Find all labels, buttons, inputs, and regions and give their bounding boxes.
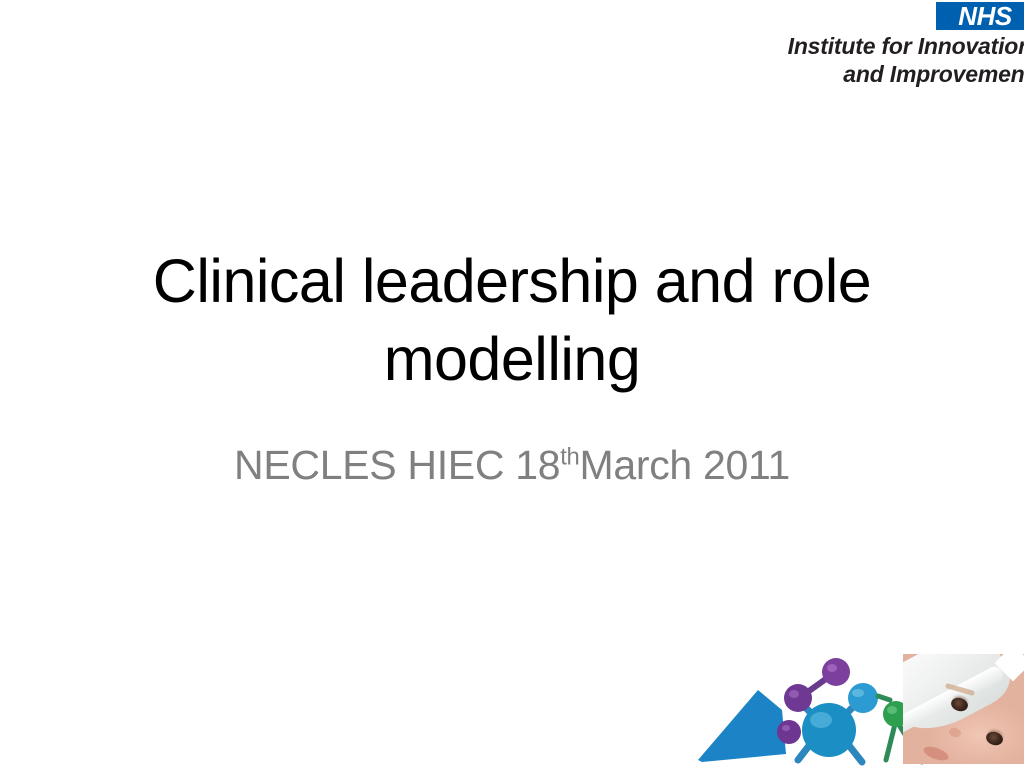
molecule-blue-sphere-small-highlight [852, 689, 864, 697]
nhs-strapline-line2: and Improvement [724, 60, 1024, 88]
subtitle-block: NECLES HIEC 18thMarch 2011 [62, 440, 962, 490]
molecule-blue-sphere-small [848, 683, 878, 713]
molecule-core-sphere [802, 703, 856, 757]
slide-title: Clinical leadership and role modelling [62, 242, 962, 398]
molecule-green-sphere-highlight [887, 706, 897, 714]
blue-wedge-shape [698, 690, 786, 762]
nhs-badge: NHS [936, 2, 1024, 30]
molecule-core-highlight [810, 712, 832, 728]
footer-graphic [690, 648, 1024, 768]
molecule-purple-sphere-wedge-highlight [782, 725, 790, 731]
subtitle-prefix: NECLES HIEC 18 [234, 442, 560, 488]
molecule-purple-sphere-left [784, 684, 812, 712]
nhs-strapline-line1: Institute for Innovation [788, 33, 1024, 59]
molecule-purple-sphere-wedge [777, 720, 801, 744]
slide-subtitle: NECLES HIEC 18thMarch 2011 [62, 440, 962, 490]
nhs-strapline: Institute for Innovation and Improvement [724, 32, 1024, 88]
subtitle-suffix: March 2011 [579, 442, 789, 488]
slide-canvas: NHS Institute for Innovation and Improve… [0, 0, 1024, 768]
molecule-purple-sphere-upper-highlight [827, 664, 837, 672]
title-block: Clinical leadership and role modelling [62, 242, 962, 398]
molecule-purple-sphere-upper [822, 658, 850, 686]
baby-photo [903, 654, 1024, 764]
molecule-purple-sphere-left-highlight [789, 690, 799, 698]
nhs-logo: NHS Institute for Innovation and Improve… [724, 0, 1024, 96]
subtitle-ordinal-suffix: th [560, 443, 579, 470]
